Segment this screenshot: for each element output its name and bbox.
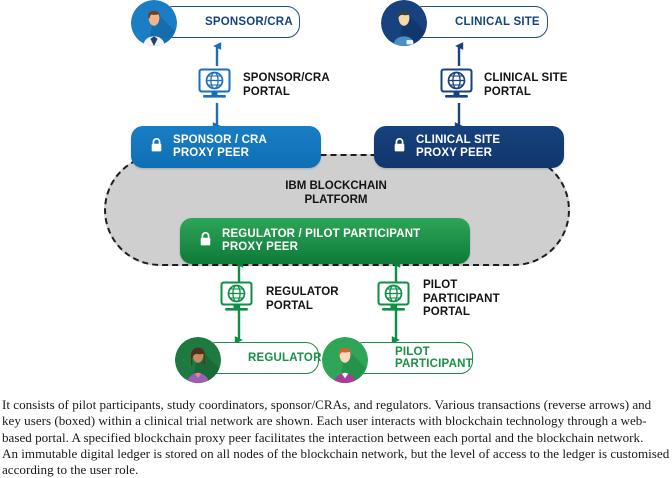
caption-line-3: based portal. A specified blockchain pro…: [0, 430, 672, 446]
proxy-peer-label: REGULATOR / PILOT PARTICIPANT PROXY PEER: [222, 228, 420, 255]
sponsor-cra-proxy-peer[interactable]: SPONSOR / CRA PROXY PEER: [131, 126, 321, 168]
user-box-sponsor-cra[interactable]: SPONSOR/CRA: [160, 6, 300, 38]
user-box-clinical-site[interactable]: CLINICAL SITE: [410, 6, 548, 38]
pilot-participant-portal-label: PILOT PARTICIPANT PORTAL: [423, 279, 500, 320]
regulator-portal-icon-wrap: [218, 281, 260, 320]
clinical-site-proxy-peer[interactable]: CLINICAL SITE PROXY PEER: [374, 126, 564, 168]
figure-caption: It consists of pilot participants, study…: [0, 397, 672, 478]
diagram-canvas: IBM BLOCKCHAIN PLATFORM: [0, 0, 672, 470]
monitor-globe-icon: [375, 281, 417, 315]
proxy-peer-label: SPONSOR / CRA PROXY PEER: [173, 134, 267, 161]
clinical-site-portal-icon-wrap: [438, 68, 480, 107]
pilot-participant-portal-icon-wrap: [375, 281, 417, 320]
caption-line-5: according to the user role.: [0, 462, 672, 478]
monitor-globe-icon: [218, 281, 260, 315]
sponsor-cra-portal-icon-wrap: [196, 68, 238, 107]
woman-avatar-icon: [175, 337, 221, 383]
monitor-globe-icon: [196, 68, 238, 102]
user-box-label: CLINICAL SITE: [411, 16, 547, 28]
proxy-peer-label: CLINICAL SITE PROXY PEER: [416, 134, 500, 161]
caption-line-4: An immutable digital ledger is stored on…: [0, 446, 672, 462]
lock-icon: [200, 232, 211, 251]
regulator-portal-label: REGULATOR PORTAL: [266, 286, 339, 313]
clinical-site-portal-label: CLINICAL SITE PORTAL: [484, 72, 568, 99]
user-box-label: SPONSOR/CRA: [161, 16, 299, 28]
user-box-label: REGULATOR: [204, 352, 328, 364]
lock-icon: [394, 138, 405, 157]
regulator-pilot-proxy-peer[interactable]: REGULATOR / PILOT PARTICIPANT PROXY PEER: [180, 218, 470, 264]
user-box-pilot-participant[interactable]: PILOT PARTICIPANT: [350, 342, 473, 374]
user-box-label: PILOT PARTICIPANT: [351, 346, 479, 370]
monitor-globe-icon: [438, 68, 480, 102]
caption-line-2: key users (boxed) within a clinical tria…: [0, 413, 672, 429]
person-avatar-icon: [322, 337, 368, 383]
sponsor-cra-portal-label: SPONSOR/CRA PORTAL: [243, 72, 330, 99]
businessman-avatar-icon: [131, 0, 177, 46]
lock-icon: [151, 138, 162, 157]
nurse-avatar-icon: [381, 0, 427, 46]
